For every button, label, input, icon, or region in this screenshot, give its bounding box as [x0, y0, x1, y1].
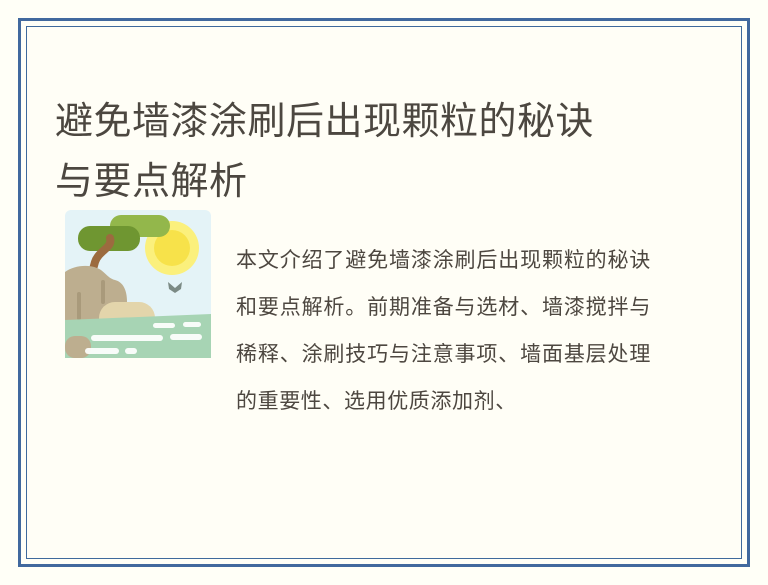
- article-title: 避免墙漆涂刷后出现颗粒的秘诀 与要点解析: [55, 92, 655, 212]
- landscape-illustration-icon: [65, 210, 211, 358]
- article-thumbnail: [65, 210, 211, 358]
- article-card-inner-frame: 避免墙漆涂刷后出现颗粒的秘诀 与要点解析: [26, 26, 742, 559]
- article-content: 避免墙漆涂刷后出现颗粒的秘诀 与要点解析: [27, 27, 741, 558]
- article-summary: 本文介绍了避免墙漆涂刷后出现颗粒的秘诀和要点解析。前期准备与选材、墙漆搅拌与稀释…: [236, 237, 651, 469]
- article-card-frame: 避免墙漆涂刷后出现颗粒的秘诀 与要点解析: [18, 18, 750, 567]
